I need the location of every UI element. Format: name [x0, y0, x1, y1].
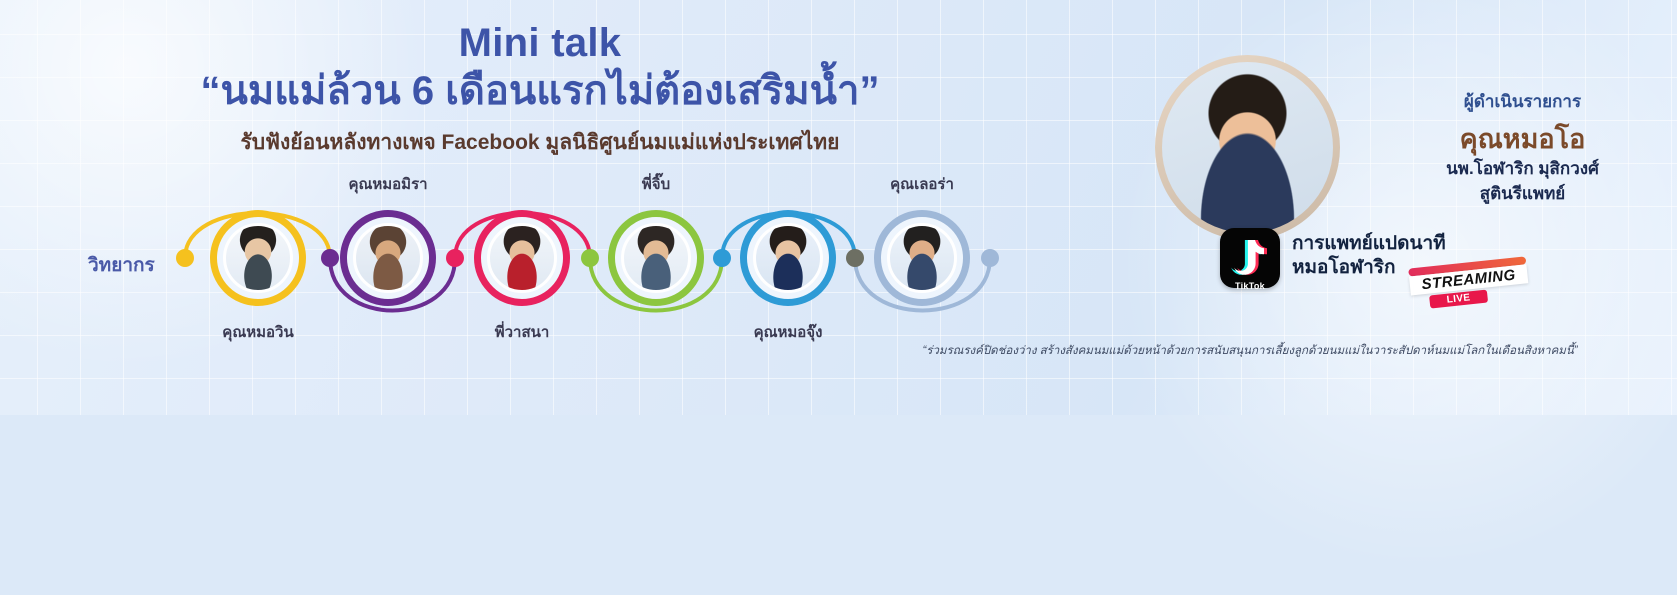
host-avatar: [1155, 55, 1340, 240]
host-fullname: นพ.โอฬาริก มุสิกวงศ์: [1375, 158, 1670, 181]
tiktok-tile: TikTok: [1220, 228, 1280, 288]
speaker-name: คุณหมอจุ๊ง: [754, 320, 823, 344]
tiktok-icon[interactable]: TikTok: [1220, 228, 1280, 288]
speaker-photo: [753, 223, 823, 293]
speaker-photo: [223, 223, 293, 293]
speaker-name: คุณหมอวิน: [222, 320, 293, 344]
host-role-label: ผู้ดำเนินรายการ: [1375, 88, 1670, 115]
page-title: Mini talk: [0, 0, 1080, 64]
tiktok-note-glyph: [1220, 228, 1280, 288]
headline-quote: “นมแม่ล้วน 6 เดือนแรกไม่ต้องเสริมน้ำ”: [0, 64, 1080, 114]
footer-note: “ร่วมรณรงค์ปิดช่องว่าง สร้างสังคมนมแม่ด้…: [840, 342, 1660, 360]
host-nickname: คุณหมอโอ: [1375, 117, 1670, 160]
speaker-photo: [487, 223, 557, 293]
tiktok-label: TikTok: [1220, 281, 1280, 291]
promo-banner: Mini talk “นมแม่ล้วน 6 เดือนแรกไม่ต้องเส…: [0, 0, 1677, 415]
speaker-photo: [353, 223, 423, 293]
speaker-photo: [621, 223, 691, 293]
headline-subtitle: รับฟังย้อนหลังทางเพจ Facebook มูลนิธิศูน…: [0, 114, 1080, 155]
speaker-photo: [887, 223, 957, 293]
speaker-name: พี่วาสนา: [495, 320, 550, 344]
channel-name-line1: การแพทย์แปดนาที: [1292, 232, 1446, 256]
speaker-name: พี่จิ๊บ: [642, 172, 670, 196]
host-avatar-image: [1162, 62, 1333, 233]
headline-block: Mini talk “นมแม่ล้วน 6 เดือนแรกไม่ต้องเส…: [0, 0, 1080, 155]
speaker-timeline: คุณหมอวิน คุณหมอมิรา พี่วาสนา พี่จิ๊บ: [0, 170, 1060, 350]
speaker-name: คุณเลอร่า: [890, 172, 954, 196]
host-specialty: สูตินรีแพทย์: [1375, 180, 1670, 207]
speaker-name: คุณหมอมิรา: [348, 172, 427, 196]
